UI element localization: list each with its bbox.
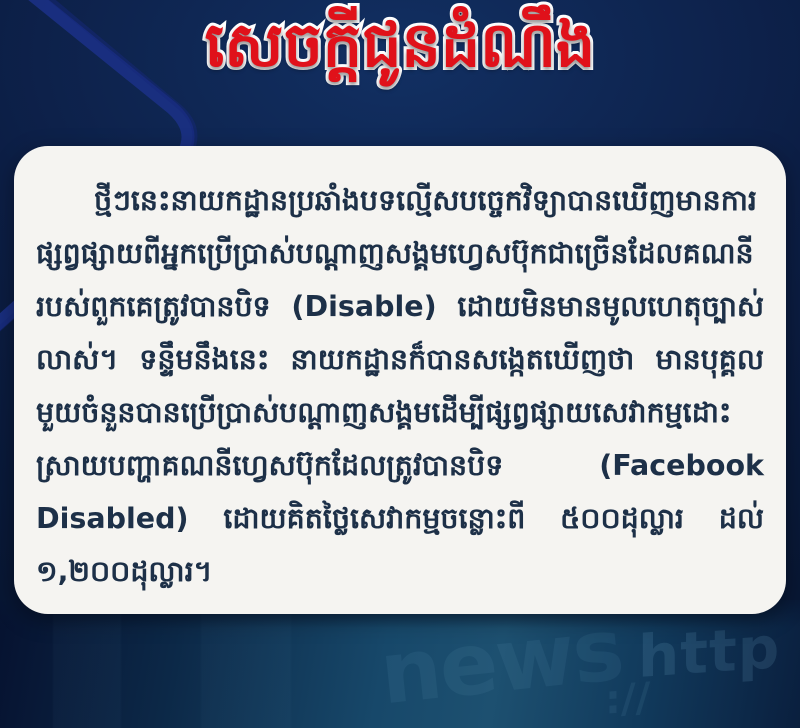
notice-poster: សេចក្តីជូនដំណឹង news http :// ថ្មីៗនេះនា… — [0, 0, 800, 728]
notice-card: ថ្មីៗនេះនាយកដ្ឋានប្រឆាំងបទល្មើសបច្ចេកវិទ… — [14, 146, 786, 614]
page-title-container: សេចក្តីជូនដំណឹង — [0, 14, 800, 76]
notice-body-text: ថ្មីៗនេះនាយកដ្ឋានប្រឆាំងបទល្មើសបច្ចេកវិទ… — [36, 174, 764, 598]
page-title: សេចក្តីជូនដំណឹង — [205, 14, 596, 76]
watermark-text-2: :// — [605, 674, 650, 723]
